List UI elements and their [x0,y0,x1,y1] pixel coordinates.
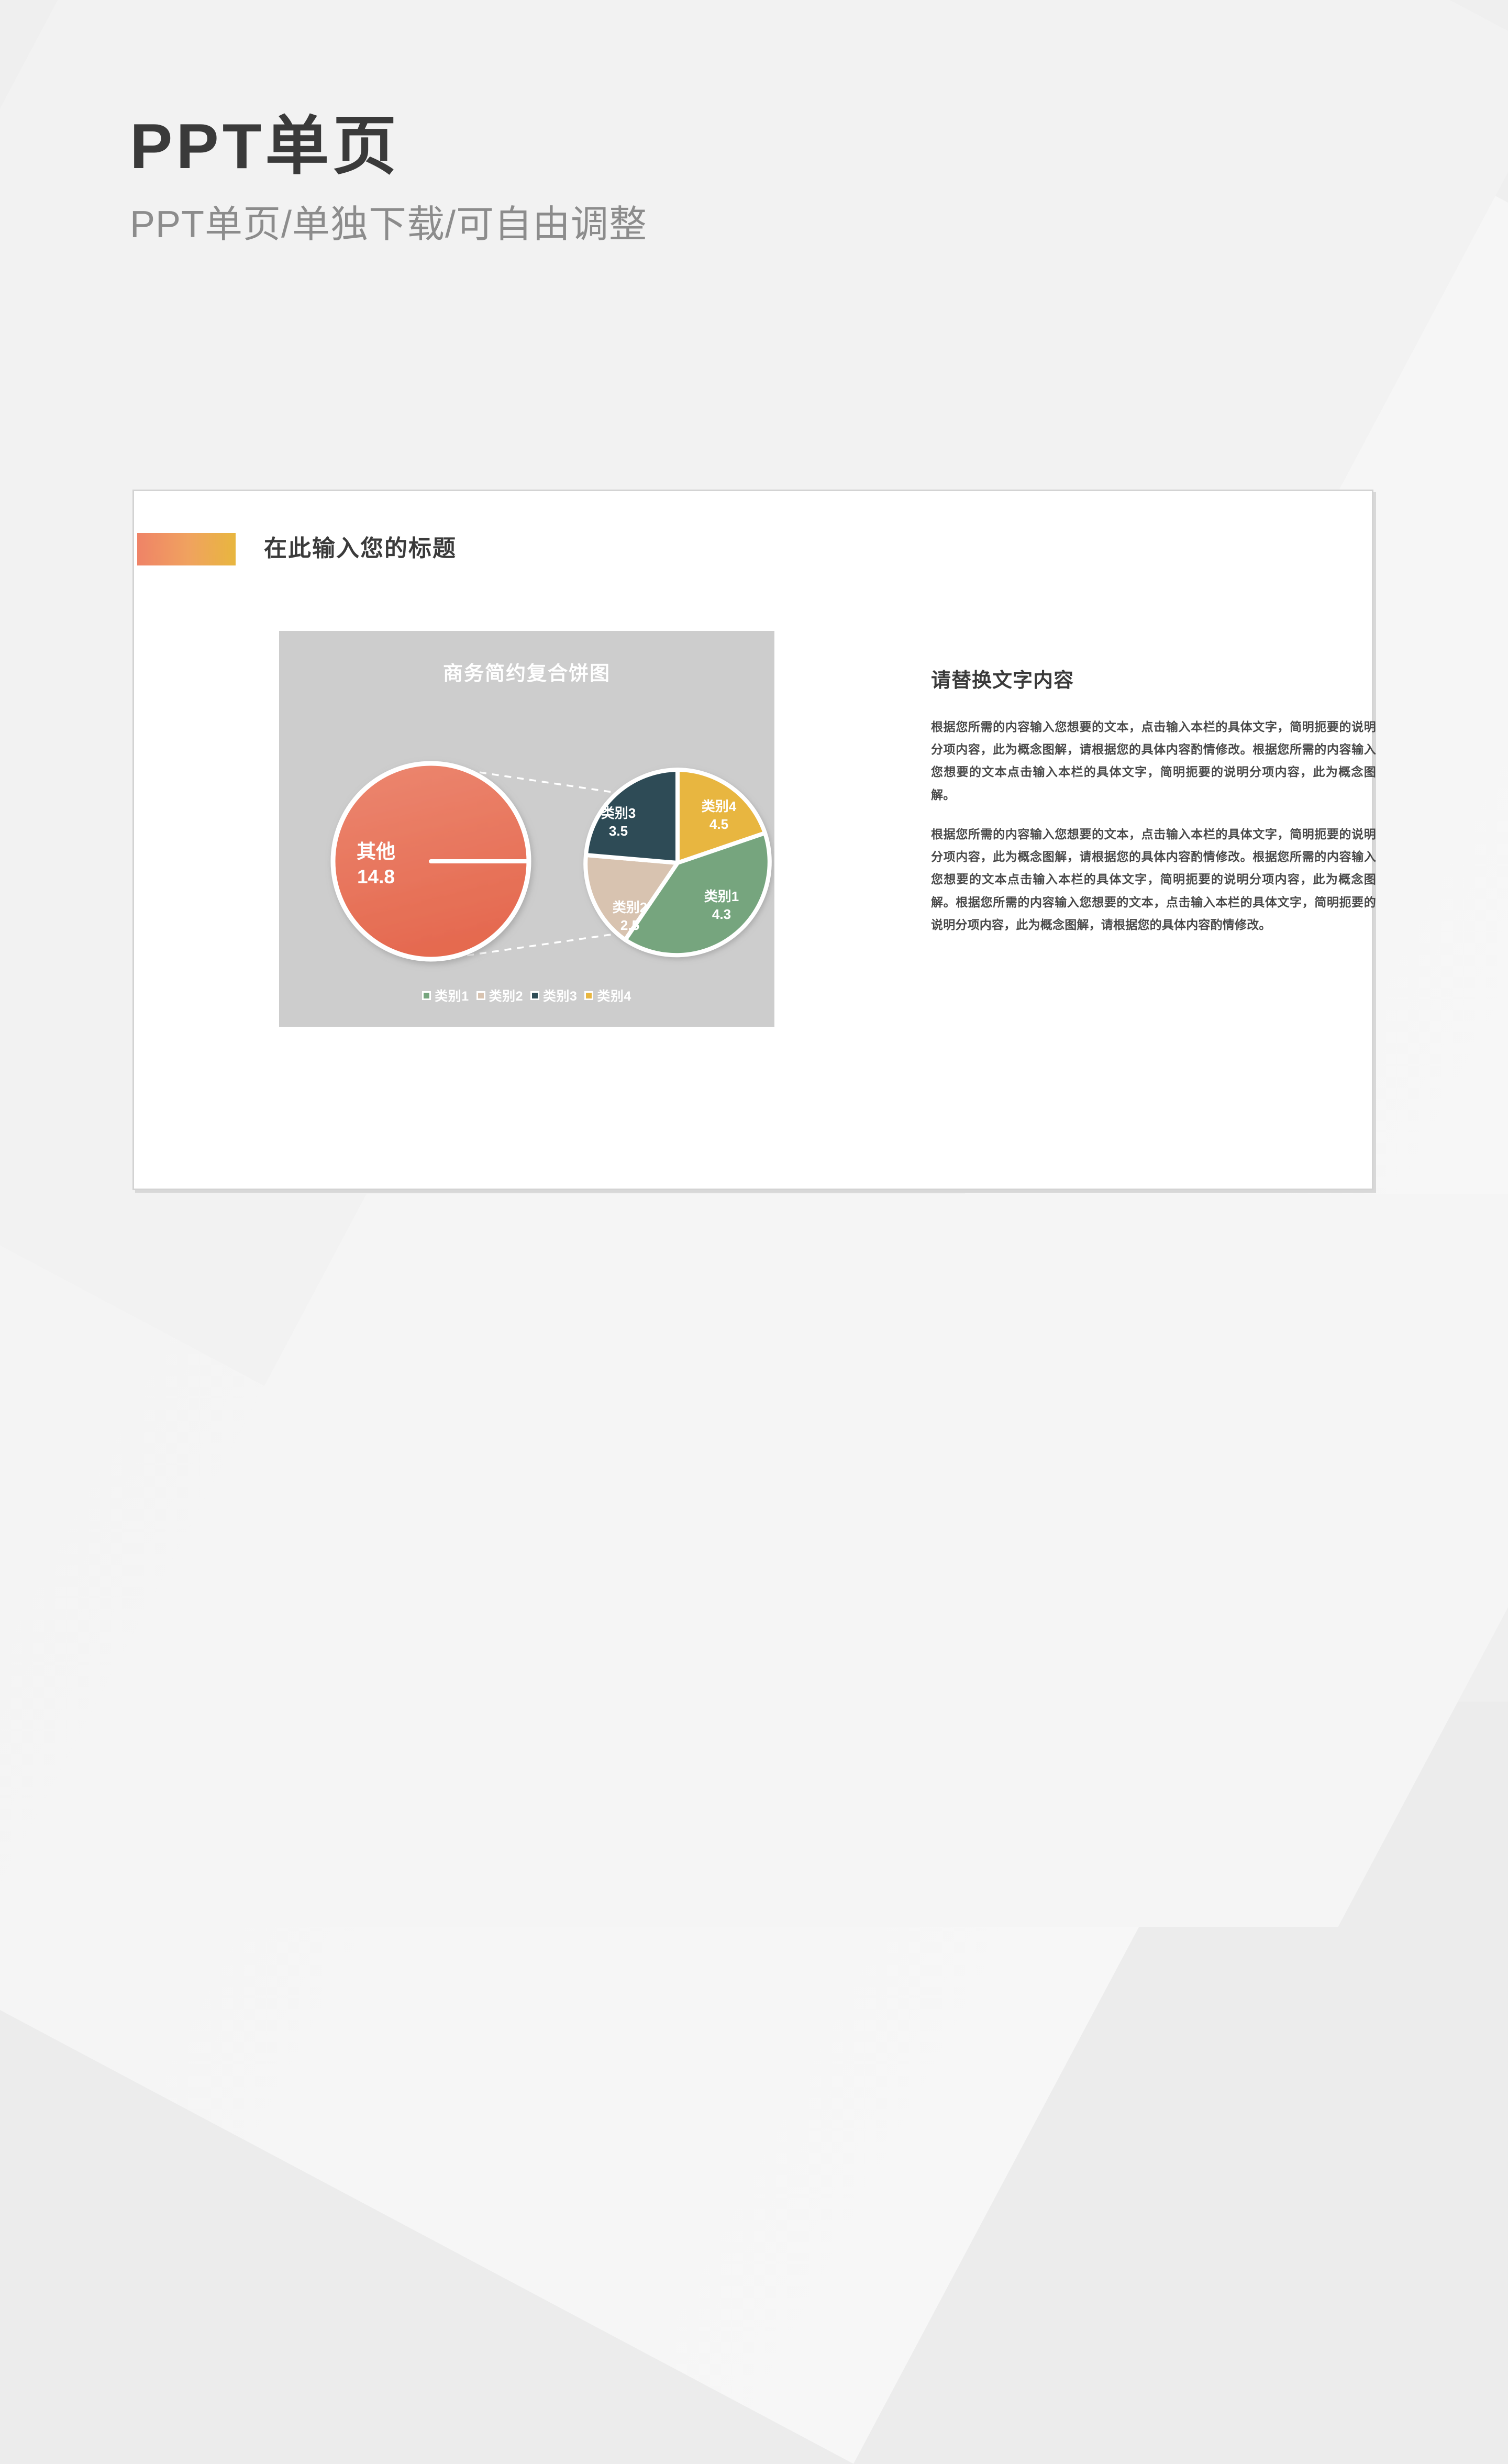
slide-title: 在此输入您的标题 [264,532,457,565]
secondary-pie [585,770,770,955]
body-paragraph: 根据您所需的内容输入您想要的文本，点击输入本栏的具体文字，简明扼要的说明分项内容… [931,716,1376,806]
slice-label-category2-name: 类别2 [613,900,647,915]
pie-of-pie-chart: 其他 14.8 类别4 4.5 类别1 4.3 类别2 2.5 [279,631,774,1027]
slice-label-category1-name: 类别1 [704,889,739,904]
title-accent-bar [137,533,236,565]
legend-item-category3[interactable]: 类别3 [530,986,577,1005]
legend-swatch-icon [584,991,593,1000]
legend-label: 类别2 [489,986,523,1005]
body-heading: 请替换文字内容 [931,664,1376,693]
legend-label: 类别4 [597,986,631,1005]
chart-legend: 类别1 类别2 类别3 类别4 [279,986,774,1005]
slide-card: 在此输入您的标题 商务简约复合饼图 [132,490,1373,1190]
legend-item-category1[interactable]: 类别1 [422,986,469,1005]
body-paragraph: 根据您所需的内容输入您想要的文本，点击输入本栏的具体文字，简明扼要的说明分项内容… [931,823,1376,936]
slice-label-category3-value: 3.5 [609,823,628,839]
slide-title-row: 在此输入您的标题 [134,533,1372,565]
legend-item-category2[interactable]: 类别2 [476,986,523,1005]
legend-label: 类别3 [543,986,577,1005]
slice-label-category3-name: 类别3 [601,805,636,821]
legend-item-category4[interactable]: 类别4 [584,986,631,1005]
slice-label-category4-name: 类别4 [702,798,737,814]
text-column: 请替换文字内容 根据您所需的内容输入您想要的文本，点击输入本栏的具体文字，简明扼… [931,664,1376,953]
slice-label-category2-value: 2.5 [620,917,639,933]
legend-swatch-icon [476,991,485,1000]
main-pie-label-name: 其他 [357,841,395,862]
main-pie-label-value: 14.8 [357,866,395,887]
legend-swatch-icon [422,991,431,1000]
page-subtitle: PPT单页/单独下载/可自由调整 [130,193,647,248]
page-title: PPT单页 [130,113,647,180]
legend-label: 类别1 [435,986,469,1005]
legend-swatch-icon [530,991,539,1000]
slice-label-category1-value: 4.3 [712,906,731,922]
page-header: PPT单页 PPT单页/单独下载/可自由调整 [130,113,647,248]
slice-label-category4-value: 4.5 [709,816,728,832]
chart-panel: 商务简约复合饼图 [279,631,774,1027]
